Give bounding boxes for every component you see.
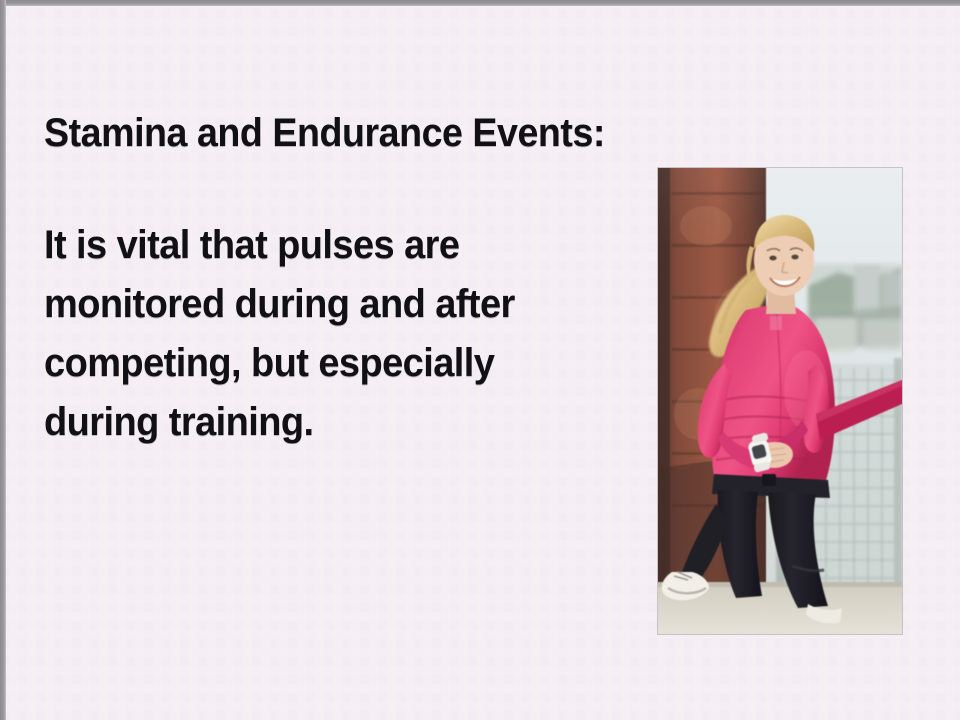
slide-heading: Stamina and Endurance Events: xyxy=(44,108,608,158)
runner-photo-illustration xyxy=(658,168,902,634)
slide-body-text: It is vital that pulses are monitored du… xyxy=(44,158,614,452)
presentation-slide: Stamina and Endurance Events: It is vita… xyxy=(0,0,960,720)
slide-left-border xyxy=(0,0,6,720)
runner-photo xyxy=(658,168,902,634)
slide-top-border xyxy=(0,0,960,6)
slide-text-block: Stamina and Endurance Events: It is vita… xyxy=(44,108,644,452)
